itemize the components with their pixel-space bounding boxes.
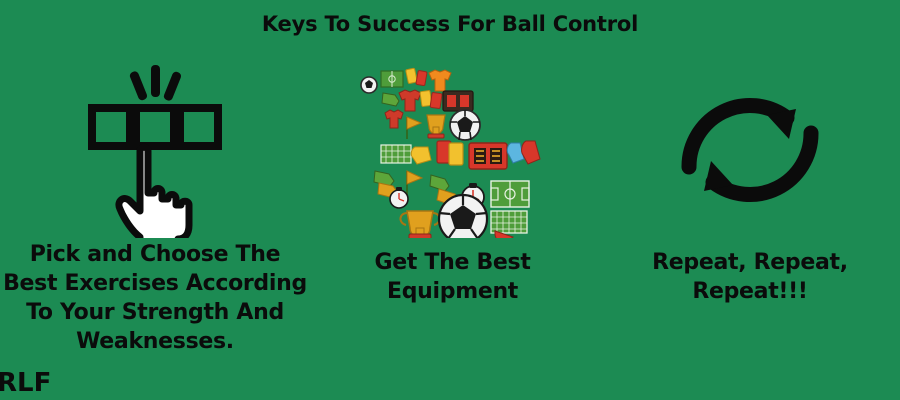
caption-get-equipment: Get The Best Equipment xyxy=(310,248,595,306)
column-repeat: Repeat, Repeat, Repeat!!! xyxy=(600,60,900,390)
column-get-equipment: Get The Best Equipment xyxy=(310,60,595,390)
page-title: Keys To Success For Ball Control xyxy=(0,13,900,36)
choose-squares-hand-icon xyxy=(80,63,230,238)
infographic-banner: Keys To Success For Ball Control xyxy=(0,0,900,400)
icon-area-equipment xyxy=(310,60,595,240)
icon-area-pick xyxy=(0,60,310,240)
caption-pick-and-choose: Pick and Choose The Best Exercises Accor… xyxy=(0,240,310,356)
soccer-equipment-collage-icon xyxy=(355,63,550,238)
watermark-rlf: RLF xyxy=(0,368,51,398)
icon-area-repeat xyxy=(600,60,900,240)
caption-repeat: Repeat, Repeat, Repeat!!! xyxy=(600,248,900,306)
repeat-cycle-arrows-icon xyxy=(675,75,825,225)
column-pick-and-choose: Pick and Choose The Best Exercises Accor… xyxy=(0,60,310,390)
